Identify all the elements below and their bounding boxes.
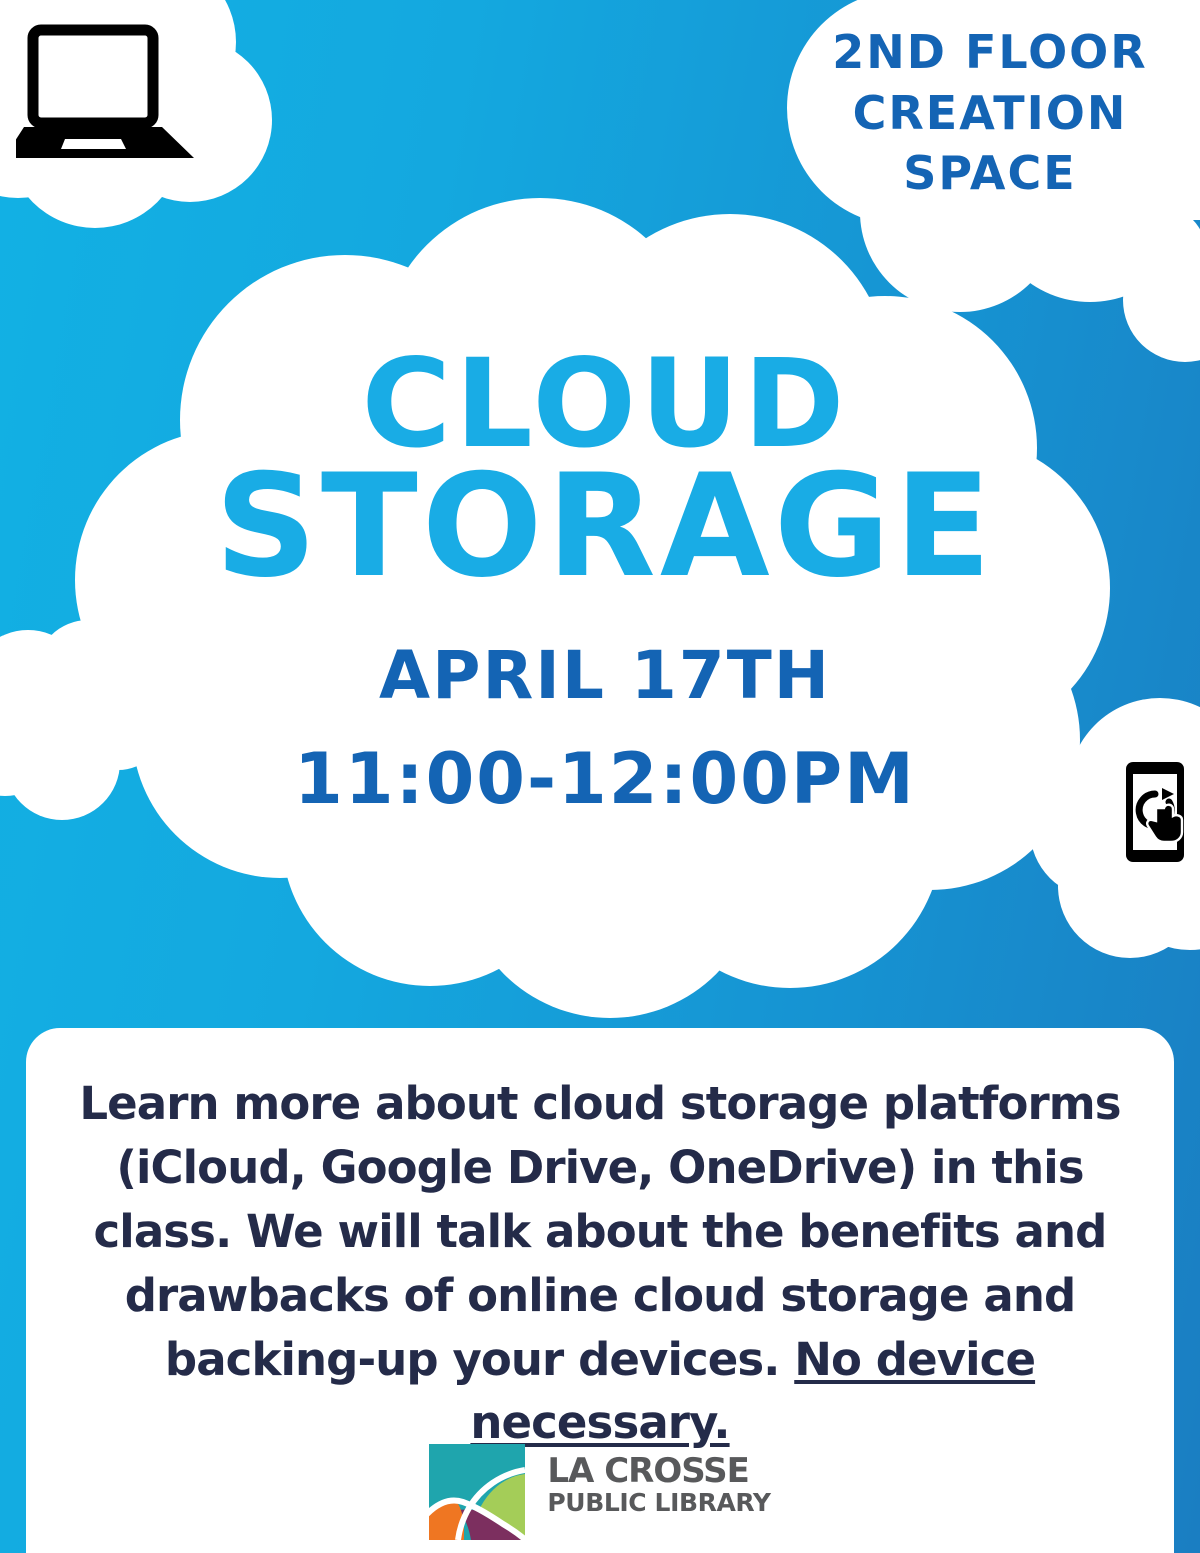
laptop-icon bbox=[16, 24, 196, 169]
phone-touch-icon bbox=[1122, 758, 1188, 866]
library-logo-wordmark: LA CROSSE PUBLIC LIBRARY bbox=[547, 1454, 770, 1516]
event-date: APRIL 17TH bbox=[140, 637, 1070, 714]
venue-line-1: 2ND FLOOR bbox=[800, 22, 1180, 83]
logo-line-2: PUBLIC LIBRARY bbox=[547, 1489, 770, 1517]
library-logo-mark-icon bbox=[429, 1444, 525, 1540]
page-title-line-2: STORAGE bbox=[140, 462, 1070, 593]
poster-canvas: 2ND FLOOR CREATION SPACE CLOUD STORAGE A… bbox=[0, 0, 1200, 1553]
event-description: Learn more about cloud storage platforms… bbox=[26, 1028, 1174, 1455]
logo-line-1: LA CROSSE bbox=[547, 1454, 770, 1489]
event-time: 11:00-12:00PM bbox=[140, 738, 1070, 820]
library-logo: LA CROSSE PUBLIC LIBRARY bbox=[0, 1444, 1200, 1540]
cloud-right-upper bbox=[1114, 206, 1200, 362]
event-headline-block: CLOUD STORAGE APRIL 17TH 11:00-12:00PM bbox=[140, 348, 1070, 820]
venue-line-3: SPACE bbox=[800, 143, 1180, 204]
venue-line-2: CREATION bbox=[800, 83, 1180, 144]
venue-caption: 2ND FLOOR CREATION SPACE bbox=[800, 22, 1180, 204]
